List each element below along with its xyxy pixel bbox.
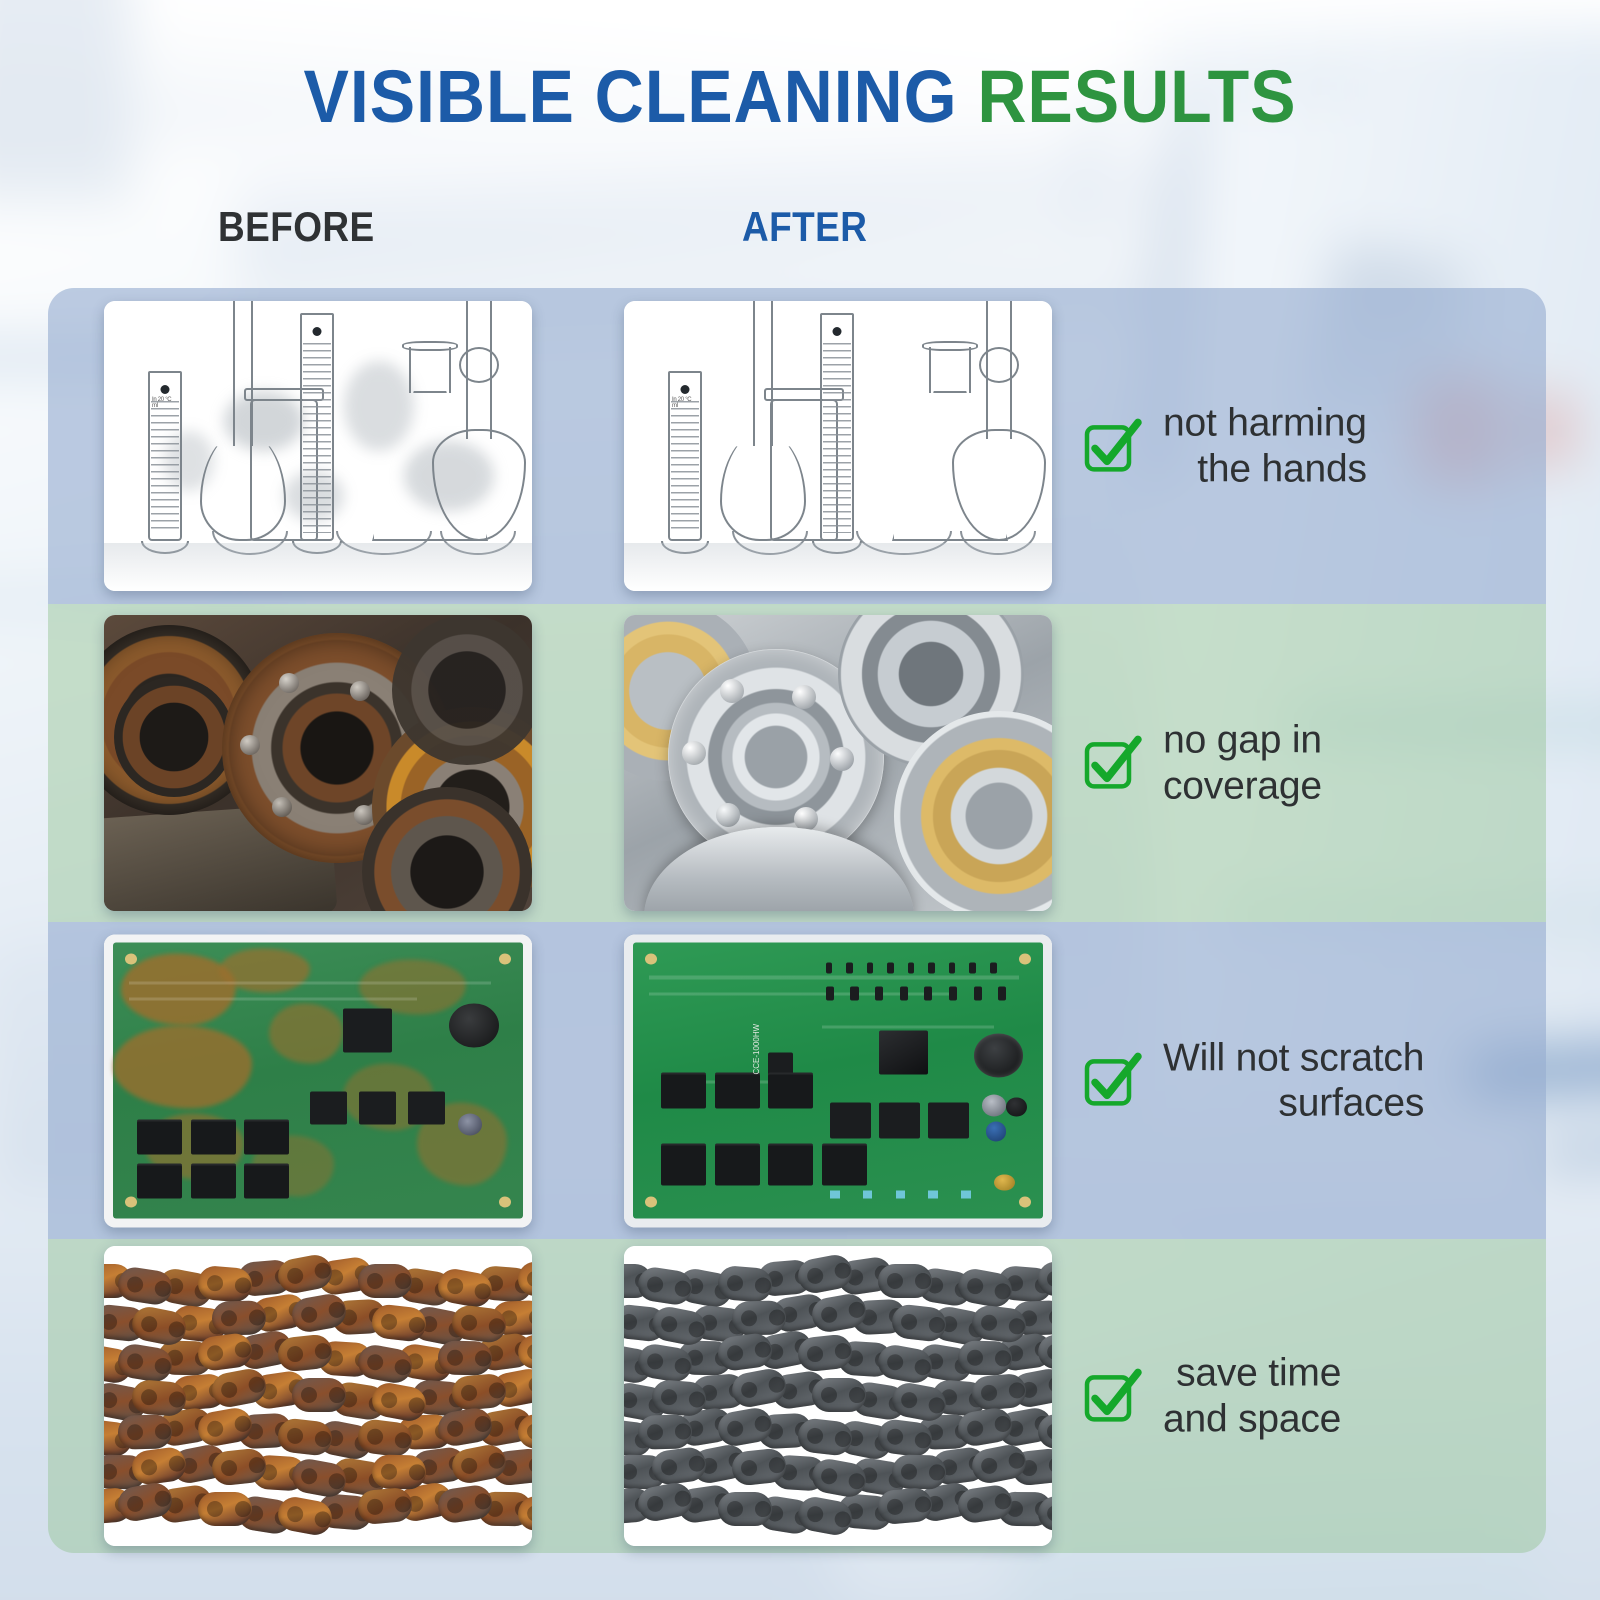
title-part-visible-cleaning: VISIBLE CLEANING bbox=[304, 55, 978, 138]
chain-link bbox=[812, 1378, 866, 1412]
chain-link bbox=[438, 1340, 493, 1375]
after-image-bearings bbox=[624, 615, 1052, 911]
feature-label: Will not scratch surfaces bbox=[1163, 1035, 1424, 1126]
column-label-before: BEFORE bbox=[218, 203, 375, 251]
chain-link bbox=[197, 1265, 254, 1303]
comparison-row-bearings: no gap in coverage bbox=[48, 604, 1546, 922]
feature-not-harming-hands: not harming the hands bbox=[1083, 400, 1367, 491]
chain-link bbox=[971, 1372, 1028, 1411]
feature-save-time-space: save time and space bbox=[1083, 1350, 1341, 1441]
pcb-silkscreen-text: CCE-1000HW bbox=[752, 1024, 761, 1075]
page-title: VISIBLE CLEANING RESULTS bbox=[64, 60, 1536, 134]
column-headers: BEFORE AFTER bbox=[0, 203, 1600, 263]
comparison-row-circuit-board: CCE-1000HW Will not scratch surfaces bbox=[48, 922, 1546, 1239]
chain-link bbox=[638, 1414, 693, 1450]
comparison-rows: In 20 °Cml bbox=[48, 288, 1546, 1553]
chain-link bbox=[878, 1264, 932, 1298]
chain-link bbox=[958, 1340, 1013, 1375]
chain-link bbox=[717, 1265, 774, 1303]
column-label-after: AFTER bbox=[742, 203, 867, 251]
chain-link bbox=[718, 1492, 772, 1526]
chain-link bbox=[877, 1486, 934, 1525]
after-image-chain bbox=[624, 1246, 1052, 1546]
feature-will-not-scratch: Will not scratch surfaces bbox=[1083, 1035, 1424, 1126]
before-image-glassware: In 20 °Cml bbox=[104, 301, 532, 591]
check-square-icon bbox=[1083, 734, 1141, 792]
chain-link bbox=[118, 1414, 173, 1450]
chain-link bbox=[732, 1300, 787, 1336]
chain-link bbox=[651, 1379, 708, 1417]
title-part-results: RESULTS bbox=[977, 55, 1296, 138]
check-square-icon bbox=[1083, 1367, 1141, 1425]
feature-no-gap-coverage: no gap in coverage bbox=[1083, 717, 1322, 808]
chain-link bbox=[212, 1300, 267, 1336]
feature-label: no gap in coverage bbox=[1163, 717, 1322, 808]
chain-link bbox=[451, 1372, 508, 1411]
before-image-bearings bbox=[104, 615, 532, 911]
check-square-icon bbox=[1083, 1052, 1141, 1110]
chain-link bbox=[131, 1379, 188, 1417]
after-image-glassware: In 20 °Cml bbox=[624, 301, 1052, 591]
chain-link bbox=[372, 1454, 427, 1489]
chain-link bbox=[358, 1264, 412, 1298]
feature-label: not harming the hands bbox=[1163, 400, 1367, 491]
bg-blue-rail bbox=[1539, 1128, 1600, 1169]
comparison-row-glassware: In 20 °Cml bbox=[48, 288, 1546, 604]
feature-label: save time and space bbox=[1163, 1350, 1341, 1441]
chain-link bbox=[198, 1492, 252, 1526]
comparison-row-chain: save time and space bbox=[48, 1239, 1546, 1553]
before-image-chain bbox=[104, 1246, 532, 1546]
chain-link bbox=[892, 1454, 947, 1489]
check-square-icon bbox=[1083, 417, 1141, 475]
chain-link bbox=[357, 1486, 414, 1525]
chain-link bbox=[292, 1378, 346, 1412]
before-image-circuit-board bbox=[104, 934, 532, 1227]
after-image-circuit-board: CCE-1000HW bbox=[624, 934, 1052, 1227]
